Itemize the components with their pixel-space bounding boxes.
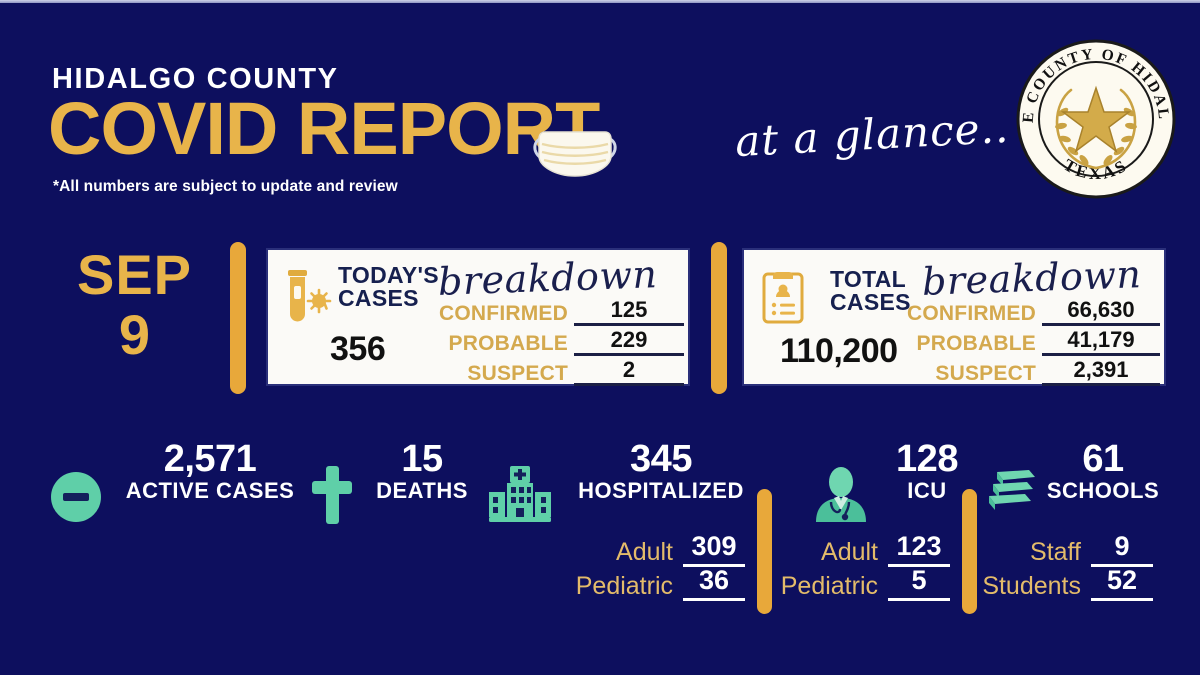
todays-cases-title-line1: TODAY'S	[338, 264, 439, 287]
todays-cases-total: 356	[330, 330, 385, 369]
divider-bar-middle	[711, 242, 727, 394]
todays-cases-title-line2: CASES	[338, 287, 439, 310]
header-script-tagline: at a glance..	[734, 103, 1010, 166]
sub-row: Staff 9	[988, 533, 1153, 567]
divider-bar-hosp-icu	[757, 489, 772, 614]
divider-bar-icu-schools	[962, 489, 977, 614]
test-tube-virus-icon	[282, 268, 334, 326]
schools-breakdown: Staff 9 Students 52	[988, 533, 1153, 601]
icu-stat: 128 ICU	[872, 440, 982, 504]
icu-breakdown: Adult 123 Pediatric 5	[780, 533, 950, 601]
breakdown-label: PROBABLE	[917, 332, 1036, 356]
active-cases-number: 2,571	[120, 440, 300, 478]
sub-row: Adult 123	[780, 533, 950, 567]
total-cases-card: TOTAL CASES 110,200 breakdown CONFIRMED …	[742, 248, 1166, 386]
covid-report-infographic: HIDALGO COUNTY COVID REPORT at a glance.…	[0, 0, 1200, 675]
deaths-label: DEATHS	[362, 478, 482, 504]
breakdown-row: PROBABLE 229	[428, 326, 684, 356]
schools-label: SCHOOLS	[1028, 478, 1178, 504]
breakdown-label: CONFIRMED	[907, 302, 1036, 326]
sub-value: 52	[1091, 566, 1153, 601]
sub-label: Pediatric	[781, 571, 878, 601]
hospital-icon	[489, 466, 551, 522]
active-cases-stat: 2,571 ACTIVE CASES	[120, 440, 300, 504]
sub-label: Adult	[821, 537, 878, 567]
sub-label: Staff	[1030, 537, 1081, 567]
icu-number: 128	[872, 440, 982, 478]
breakdown-value: 41,179	[1042, 328, 1160, 356]
total-breakdown-rows: CONFIRMED 66,630 PROBABLE 41,179 SUSPECT…	[894, 296, 1160, 386]
breakdown-row: CONFIRMED 66,630	[894, 296, 1160, 326]
total-cases-total: 110,200	[780, 332, 898, 371]
clipboard-icon	[758, 268, 810, 326]
breakdown-value: 229	[574, 328, 684, 356]
breakdown-label: SUSPECT	[935, 362, 1036, 386]
breakdown-row: CONFIRMED 125	[428, 296, 684, 326]
icu-label: ICU	[872, 478, 982, 504]
report-day: 9	[52, 303, 217, 367]
circle-minus-icon	[50, 471, 102, 523]
schools-stat: 61 SCHOOLS	[1028, 440, 1178, 504]
todays-cases-card: TODAY'S CASES 356 breakdown CONFIRMED 12…	[266, 248, 690, 386]
breakdown-row: SUSPECT 2,391	[894, 356, 1160, 386]
doctor-icon	[812, 466, 870, 522]
sub-row: Students 52	[988, 567, 1153, 601]
sub-value: 123	[888, 532, 950, 567]
breakdown-label: PROBABLE	[449, 332, 568, 356]
deaths-number: 15	[362, 440, 482, 478]
schools-number: 61	[1028, 440, 1178, 478]
cross-icon	[312, 466, 352, 524]
hospitalized-stat: 345 HOSPITALIZED	[566, 440, 756, 504]
hidalgo-county-seal: THE COUNTY OF HIDALGO TEXAS	[1015, 38, 1177, 200]
sub-label: Pediatric	[576, 571, 673, 601]
breakdown-row: PROBABLE 41,179	[894, 326, 1160, 356]
disclaimer-note: *All numbers are subject to update and r…	[53, 178, 398, 196]
sub-value: 309	[683, 532, 745, 567]
sub-row: Adult 309	[545, 533, 745, 567]
sub-row: Pediatric 5	[780, 567, 950, 601]
report-date: SEP 9	[52, 248, 217, 367]
sub-value: 5	[888, 566, 950, 601]
deaths-stat: 15 DEATHS	[362, 440, 482, 504]
sub-value: 36	[683, 566, 745, 601]
breakdown-value: 2	[574, 358, 684, 386]
divider-bar-left	[230, 242, 246, 394]
sub-label: Students	[982, 571, 1081, 601]
sub-label: Adult	[616, 537, 673, 567]
breakdown-value: 2,391	[1042, 358, 1160, 386]
hospitalized-number: 345	[566, 440, 756, 478]
active-cases-label: ACTIVE CASES	[120, 478, 300, 504]
sub-row: Pediatric 36	[545, 567, 745, 601]
hospitalized-breakdown: Adult 309 Pediatric 36	[545, 533, 745, 601]
hospitalized-label: HOSPITALIZED	[566, 478, 756, 504]
breakdown-row: SUSPECT 2	[428, 356, 684, 386]
breakdown-label: SUSPECT	[467, 362, 568, 386]
todays-cases-title: TODAY'S CASES	[338, 264, 439, 310]
face-mask-icon	[531, 118, 619, 180]
breakdown-value: 125	[574, 298, 684, 326]
sub-value: 9	[1091, 532, 1153, 567]
todays-breakdown-rows: CONFIRMED 125 PROBABLE 229 SUSPECT 2	[428, 296, 684, 386]
report-month: SEP	[52, 248, 217, 303]
total-cases-title-line1: TOTAL	[830, 268, 911, 291]
page-title: COVID REPORT	[48, 92, 599, 166]
breakdown-value: 66,630	[1042, 298, 1160, 326]
breakdown-label: CONFIRMED	[439, 302, 568, 326]
